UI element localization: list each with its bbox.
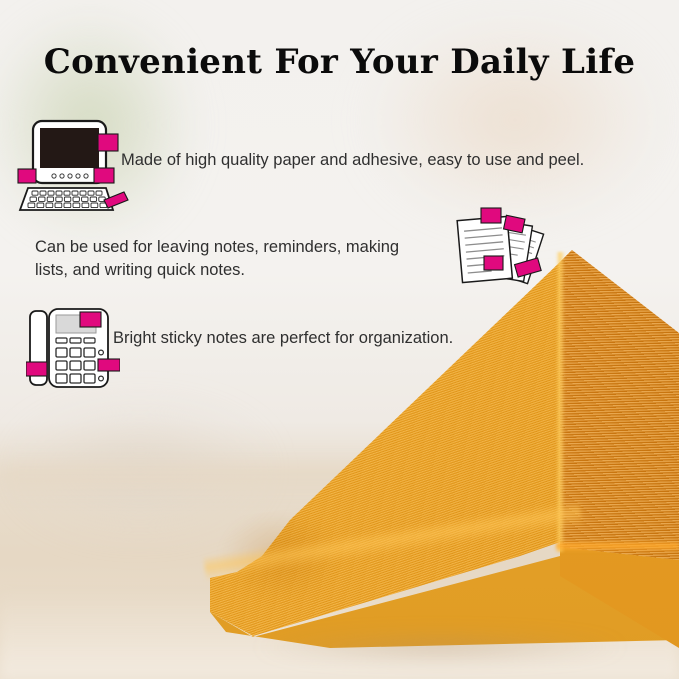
computer-icon: [16, 118, 132, 214]
documents-icon: [452, 206, 550, 300]
product-feature-banner: Convenient For Your Daily Life: [0, 0, 679, 679]
background-desk-edge: [0, 455, 679, 495]
feature-text-2-line-1: Can be used for leaving notes, reminders…: [35, 236, 455, 259]
desk-phone-icon: [26, 306, 120, 390]
background-bottom-glow: [0, 589, 679, 679]
feature-text-1: Made of high quality paper and adhesive,…: [121, 149, 584, 172]
page-title: Convenient For Your Daily Life: [0, 42, 679, 82]
feature-text-3: Bright sticky notes are perfect for orga…: [113, 327, 453, 350]
feature-text-2: Can be used for leaving notes, reminders…: [35, 236, 455, 283]
feature-text-2-line-2: lists, and writing quick notes.: [35, 259, 455, 282]
